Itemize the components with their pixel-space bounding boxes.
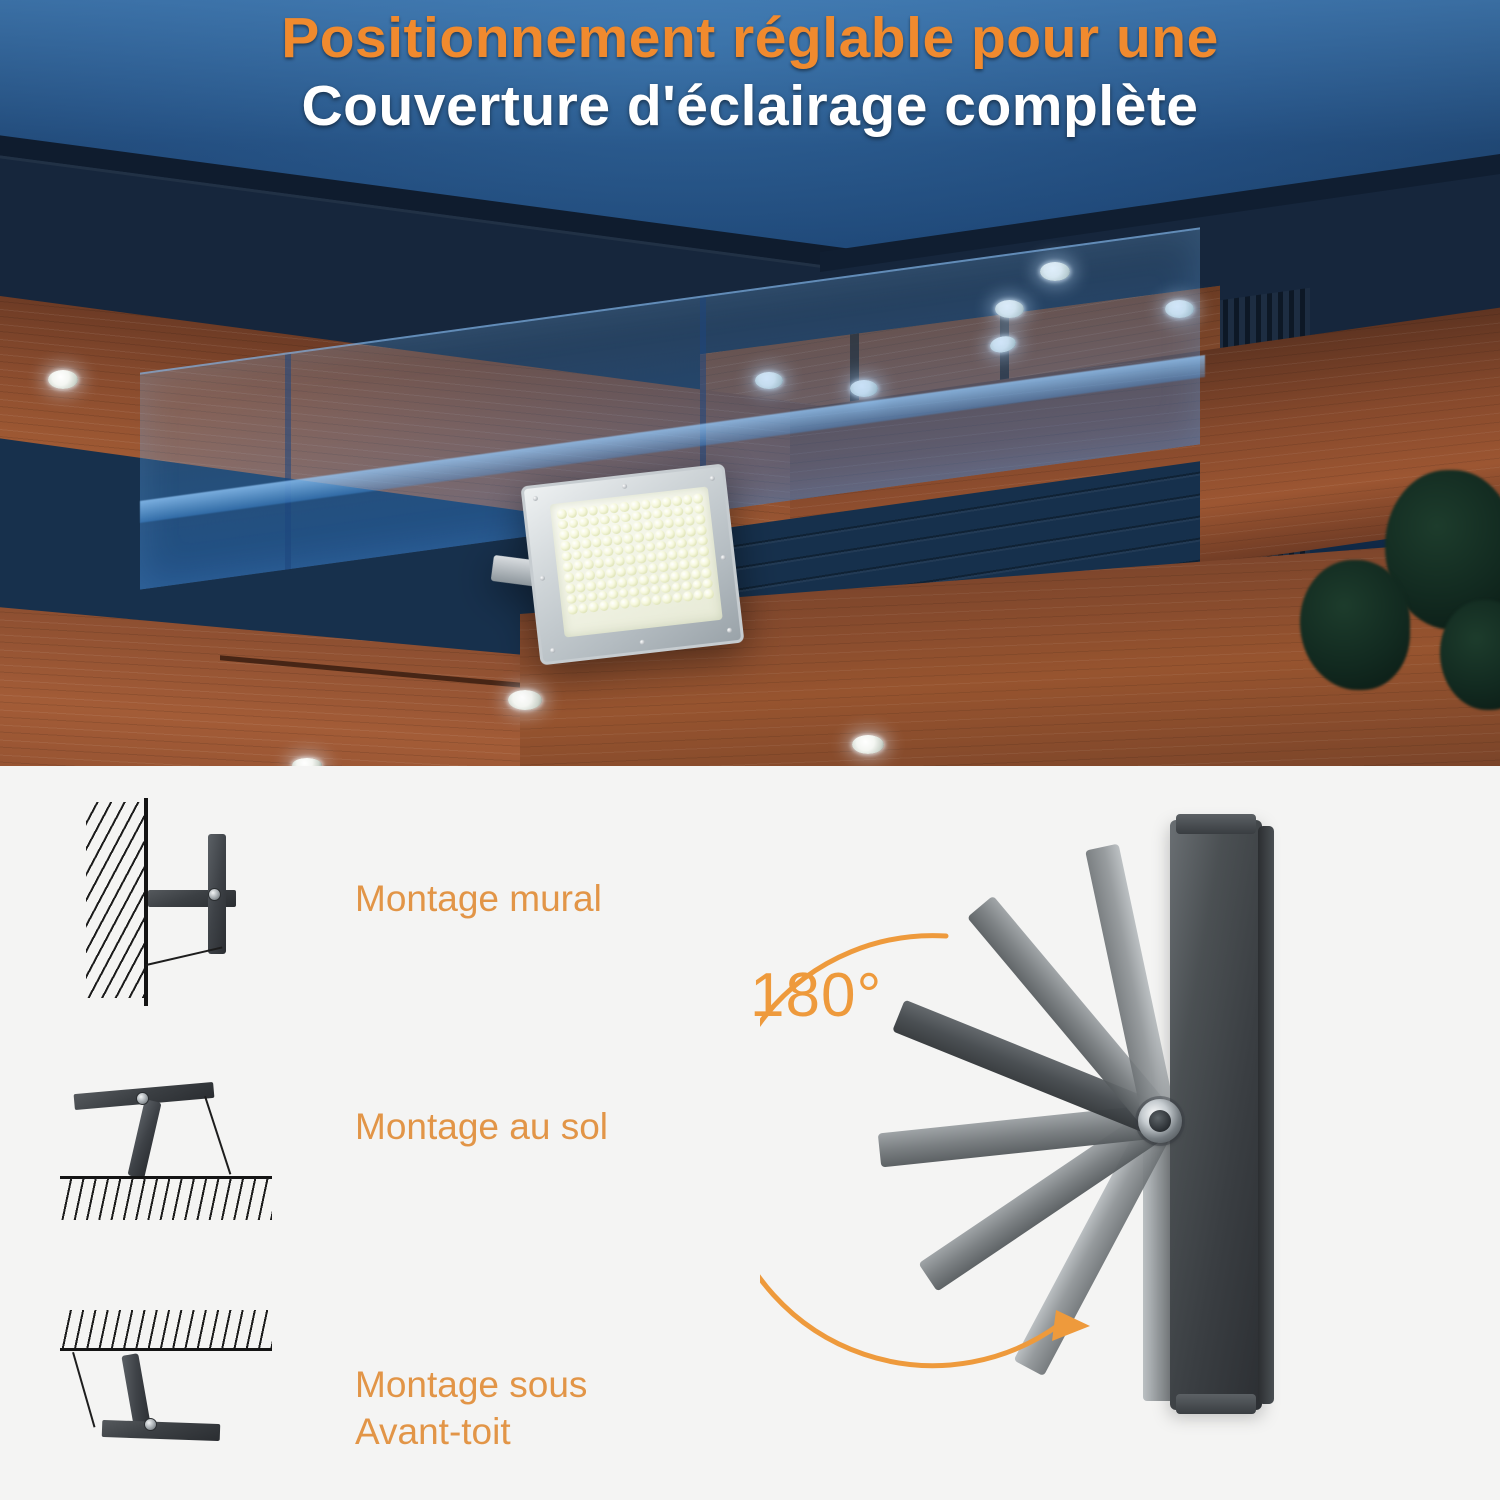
led-dot bbox=[661, 497, 672, 508]
led-dot bbox=[577, 506, 588, 517]
led-dot bbox=[578, 603, 589, 614]
led-dot bbox=[664, 518, 675, 529]
led-dot bbox=[588, 505, 599, 516]
led-dot bbox=[656, 540, 667, 551]
floodlight-lens bbox=[550, 486, 723, 637]
led-dot bbox=[614, 545, 625, 556]
led-dot bbox=[675, 527, 686, 538]
power-wire bbox=[72, 1352, 95, 1428]
led-dot bbox=[575, 582, 586, 593]
led-dot bbox=[678, 549, 689, 560]
led-dot bbox=[589, 516, 600, 527]
floodlight-body-edge bbox=[1258, 826, 1274, 1404]
led-dot bbox=[630, 597, 641, 608]
led-dot bbox=[627, 565, 638, 576]
led-dot bbox=[648, 563, 659, 574]
pivot-bolt bbox=[144, 1418, 157, 1431]
led-dot bbox=[641, 596, 652, 607]
led-dot bbox=[625, 555, 636, 566]
mount-option-wall: Montage mural bbox=[60, 794, 602, 1004]
led-dot bbox=[620, 598, 631, 609]
led-dot bbox=[580, 527, 591, 538]
led-dot bbox=[609, 503, 620, 514]
led-dot bbox=[693, 493, 704, 504]
mounting-options-panel: Montage mural Montage au sol bbox=[0, 766, 1500, 1500]
led-dot bbox=[623, 533, 634, 544]
led-dot bbox=[595, 569, 606, 580]
led-dot bbox=[665, 529, 676, 540]
led-dot bbox=[694, 504, 705, 515]
led-dot bbox=[567, 507, 578, 518]
led-dot bbox=[621, 512, 632, 523]
led-dot bbox=[662, 594, 673, 605]
led-dot bbox=[611, 524, 622, 535]
led-dot bbox=[658, 562, 669, 573]
led-dot bbox=[606, 568, 617, 579]
led-dot bbox=[609, 600, 620, 611]
led-dot bbox=[666, 539, 677, 550]
led-dot bbox=[673, 506, 684, 517]
led-dot bbox=[679, 559, 690, 570]
led-dot bbox=[566, 594, 577, 605]
led-dot bbox=[686, 526, 697, 537]
led-dot bbox=[651, 498, 662, 509]
led-dot bbox=[635, 543, 646, 554]
led-dot bbox=[594, 558, 605, 569]
led-dot bbox=[696, 525, 707, 536]
led-dot bbox=[612, 535, 623, 546]
led-dot bbox=[622, 523, 633, 534]
led-dot bbox=[582, 549, 593, 560]
led-dot bbox=[651, 595, 662, 606]
led-dot bbox=[631, 511, 642, 522]
pivot-bolt bbox=[208, 888, 221, 901]
floodlight-body bbox=[1170, 820, 1262, 1410]
led-dot bbox=[572, 550, 583, 561]
led-dot bbox=[556, 509, 567, 520]
balustrade-post bbox=[285, 354, 291, 570]
led-dot bbox=[624, 544, 635, 555]
led-dot bbox=[698, 536, 709, 547]
led-dot bbox=[574, 571, 585, 582]
led-dot bbox=[576, 592, 587, 603]
led-dot bbox=[602, 536, 613, 547]
led-dot bbox=[585, 570, 596, 581]
led-dot bbox=[570, 539, 581, 550]
led-dot bbox=[581, 538, 592, 549]
led-dot bbox=[597, 590, 608, 601]
floodlight-bottom-lip bbox=[1176, 1394, 1256, 1414]
eave-mount-icon bbox=[60, 1306, 300, 1486]
led-dot bbox=[607, 578, 618, 589]
led-dot bbox=[670, 571, 681, 582]
led-dot bbox=[684, 505, 695, 516]
led-dot bbox=[701, 567, 712, 578]
led-dot bbox=[557, 519, 568, 530]
led-dot bbox=[569, 529, 580, 540]
led-dot bbox=[692, 579, 703, 590]
ground-mount-icon bbox=[60, 1066, 300, 1246]
led-dot bbox=[629, 586, 640, 597]
led-dot bbox=[674, 517, 685, 528]
led-dot bbox=[603, 546, 614, 557]
pivot-bolt-large bbox=[1138, 1099, 1182, 1143]
led-dot bbox=[667, 550, 678, 561]
led-dot bbox=[700, 557, 711, 568]
led-dot bbox=[591, 537, 602, 548]
led-dot bbox=[685, 516, 696, 527]
power-wire bbox=[204, 1096, 231, 1175]
led-dot bbox=[630, 500, 641, 511]
led-dot bbox=[599, 601, 610, 612]
led-dot bbox=[618, 588, 629, 599]
led-dot bbox=[610, 513, 621, 524]
led-dot bbox=[608, 589, 619, 600]
floodlight-housing bbox=[520, 463, 744, 665]
led-floodlight-product bbox=[511, 463, 745, 666]
led-dot bbox=[560, 541, 571, 552]
led-dot bbox=[645, 542, 656, 553]
led-dot bbox=[598, 504, 609, 515]
headline-block: Positionnement réglable pour une Couvert… bbox=[0, 8, 1500, 139]
led-dot bbox=[616, 566, 627, 577]
led-dot bbox=[619, 501, 630, 512]
led-dot bbox=[637, 564, 648, 575]
rotation-angle-label: 180° bbox=[750, 960, 882, 1031]
led-dot bbox=[650, 584, 661, 595]
led-dot bbox=[615, 556, 626, 567]
headline-line-2: Couverture d'éclairage complète bbox=[0, 74, 1500, 140]
led-dot bbox=[652, 508, 663, 519]
headline-line-1: Positionnement réglable pour une bbox=[0, 8, 1500, 70]
led-dot bbox=[644, 531, 655, 542]
bracket-blade-group bbox=[878, 844, 1180, 1401]
led-dot bbox=[639, 585, 650, 596]
led-dot bbox=[564, 572, 575, 583]
led-dot bbox=[632, 522, 643, 533]
led-dot bbox=[672, 495, 683, 506]
led-dot bbox=[672, 592, 683, 603]
led-dot bbox=[683, 591, 694, 602]
tree bbox=[1300, 560, 1410, 690]
power-wire bbox=[146, 946, 222, 965]
mount-option-ground: Montage au sol bbox=[60, 1066, 608, 1246]
led-dot bbox=[669, 560, 680, 571]
led-array bbox=[556, 493, 714, 615]
led-dot bbox=[640, 499, 651, 510]
support-leg bbox=[127, 1099, 161, 1179]
led-dot bbox=[578, 517, 589, 528]
eave-surface-line bbox=[60, 1348, 272, 1351]
led-dot bbox=[649, 573, 660, 584]
led-dot bbox=[628, 576, 639, 587]
led-dot bbox=[691, 569, 702, 580]
led-dot bbox=[562, 562, 573, 573]
led-dot bbox=[636, 553, 647, 564]
led-dot bbox=[586, 581, 597, 592]
rotation-diagram: 180° bbox=[760, 790, 1280, 1450]
led-dot bbox=[596, 579, 607, 590]
floodlight-top-lip bbox=[1176, 814, 1256, 834]
mount-option-eave: Montage sous Avant-toit bbox=[60, 1306, 587, 1486]
hero-photo: Positionnement réglable pour une Couvert… bbox=[0, 0, 1500, 766]
led-dot bbox=[590, 526, 601, 537]
led-dot bbox=[604, 557, 615, 568]
led-dot bbox=[646, 552, 657, 563]
led-dot bbox=[643, 520, 654, 531]
led-dot bbox=[693, 590, 704, 601]
led-dot bbox=[663, 507, 674, 518]
led-dot bbox=[593, 548, 604, 559]
led-dot bbox=[617, 577, 628, 588]
led-dot bbox=[583, 559, 594, 570]
recessed-downlight bbox=[292, 758, 322, 766]
led-dot bbox=[567, 604, 578, 615]
mount-option-label: Montage sous Avant-toit bbox=[355, 1361, 587, 1456]
led-dot bbox=[682, 581, 693, 592]
led-dot bbox=[642, 510, 653, 521]
led-dot bbox=[568, 518, 579, 529]
led-dot bbox=[559, 530, 570, 541]
led-dot bbox=[682, 494, 693, 505]
led-dot bbox=[688, 547, 699, 558]
led-dot bbox=[565, 583, 576, 594]
led-dot bbox=[703, 578, 714, 589]
led-dot bbox=[600, 514, 611, 525]
led-dot bbox=[657, 551, 668, 562]
mount-option-label: Montage mural bbox=[355, 875, 602, 922]
led-dot bbox=[659, 572, 670, 583]
led-dot bbox=[587, 591, 598, 602]
led-dot bbox=[633, 532, 644, 543]
led-dot bbox=[699, 546, 710, 557]
fixture-body bbox=[102, 1420, 221, 1441]
led-dot bbox=[638, 575, 649, 586]
led-dot bbox=[661, 583, 672, 594]
infographic-page: Positionnement réglable pour une Couvert… bbox=[0, 0, 1500, 1500]
led-dot bbox=[690, 558, 701, 569]
led-dot bbox=[680, 570, 691, 581]
led-dot bbox=[588, 602, 599, 613]
led-dot bbox=[573, 561, 584, 572]
led-dot bbox=[601, 525, 612, 536]
recessed-downlight bbox=[48, 370, 78, 389]
led-dot bbox=[687, 537, 698, 548]
pivot-bolt bbox=[136, 1092, 149, 1105]
led-dot bbox=[677, 538, 688, 549]
led-dot bbox=[654, 530, 665, 541]
led-dot bbox=[671, 582, 682, 593]
led-dot bbox=[653, 519, 664, 530]
wall-mount-icon bbox=[60, 794, 300, 1004]
mount-option-label: Montage au sol bbox=[355, 1103, 608, 1150]
led-dot bbox=[561, 551, 572, 562]
recessed-downlight bbox=[852, 735, 884, 754]
recessed-downlight bbox=[508, 690, 542, 710]
led-dot bbox=[695, 514, 706, 525]
led-dot bbox=[704, 589, 715, 600]
